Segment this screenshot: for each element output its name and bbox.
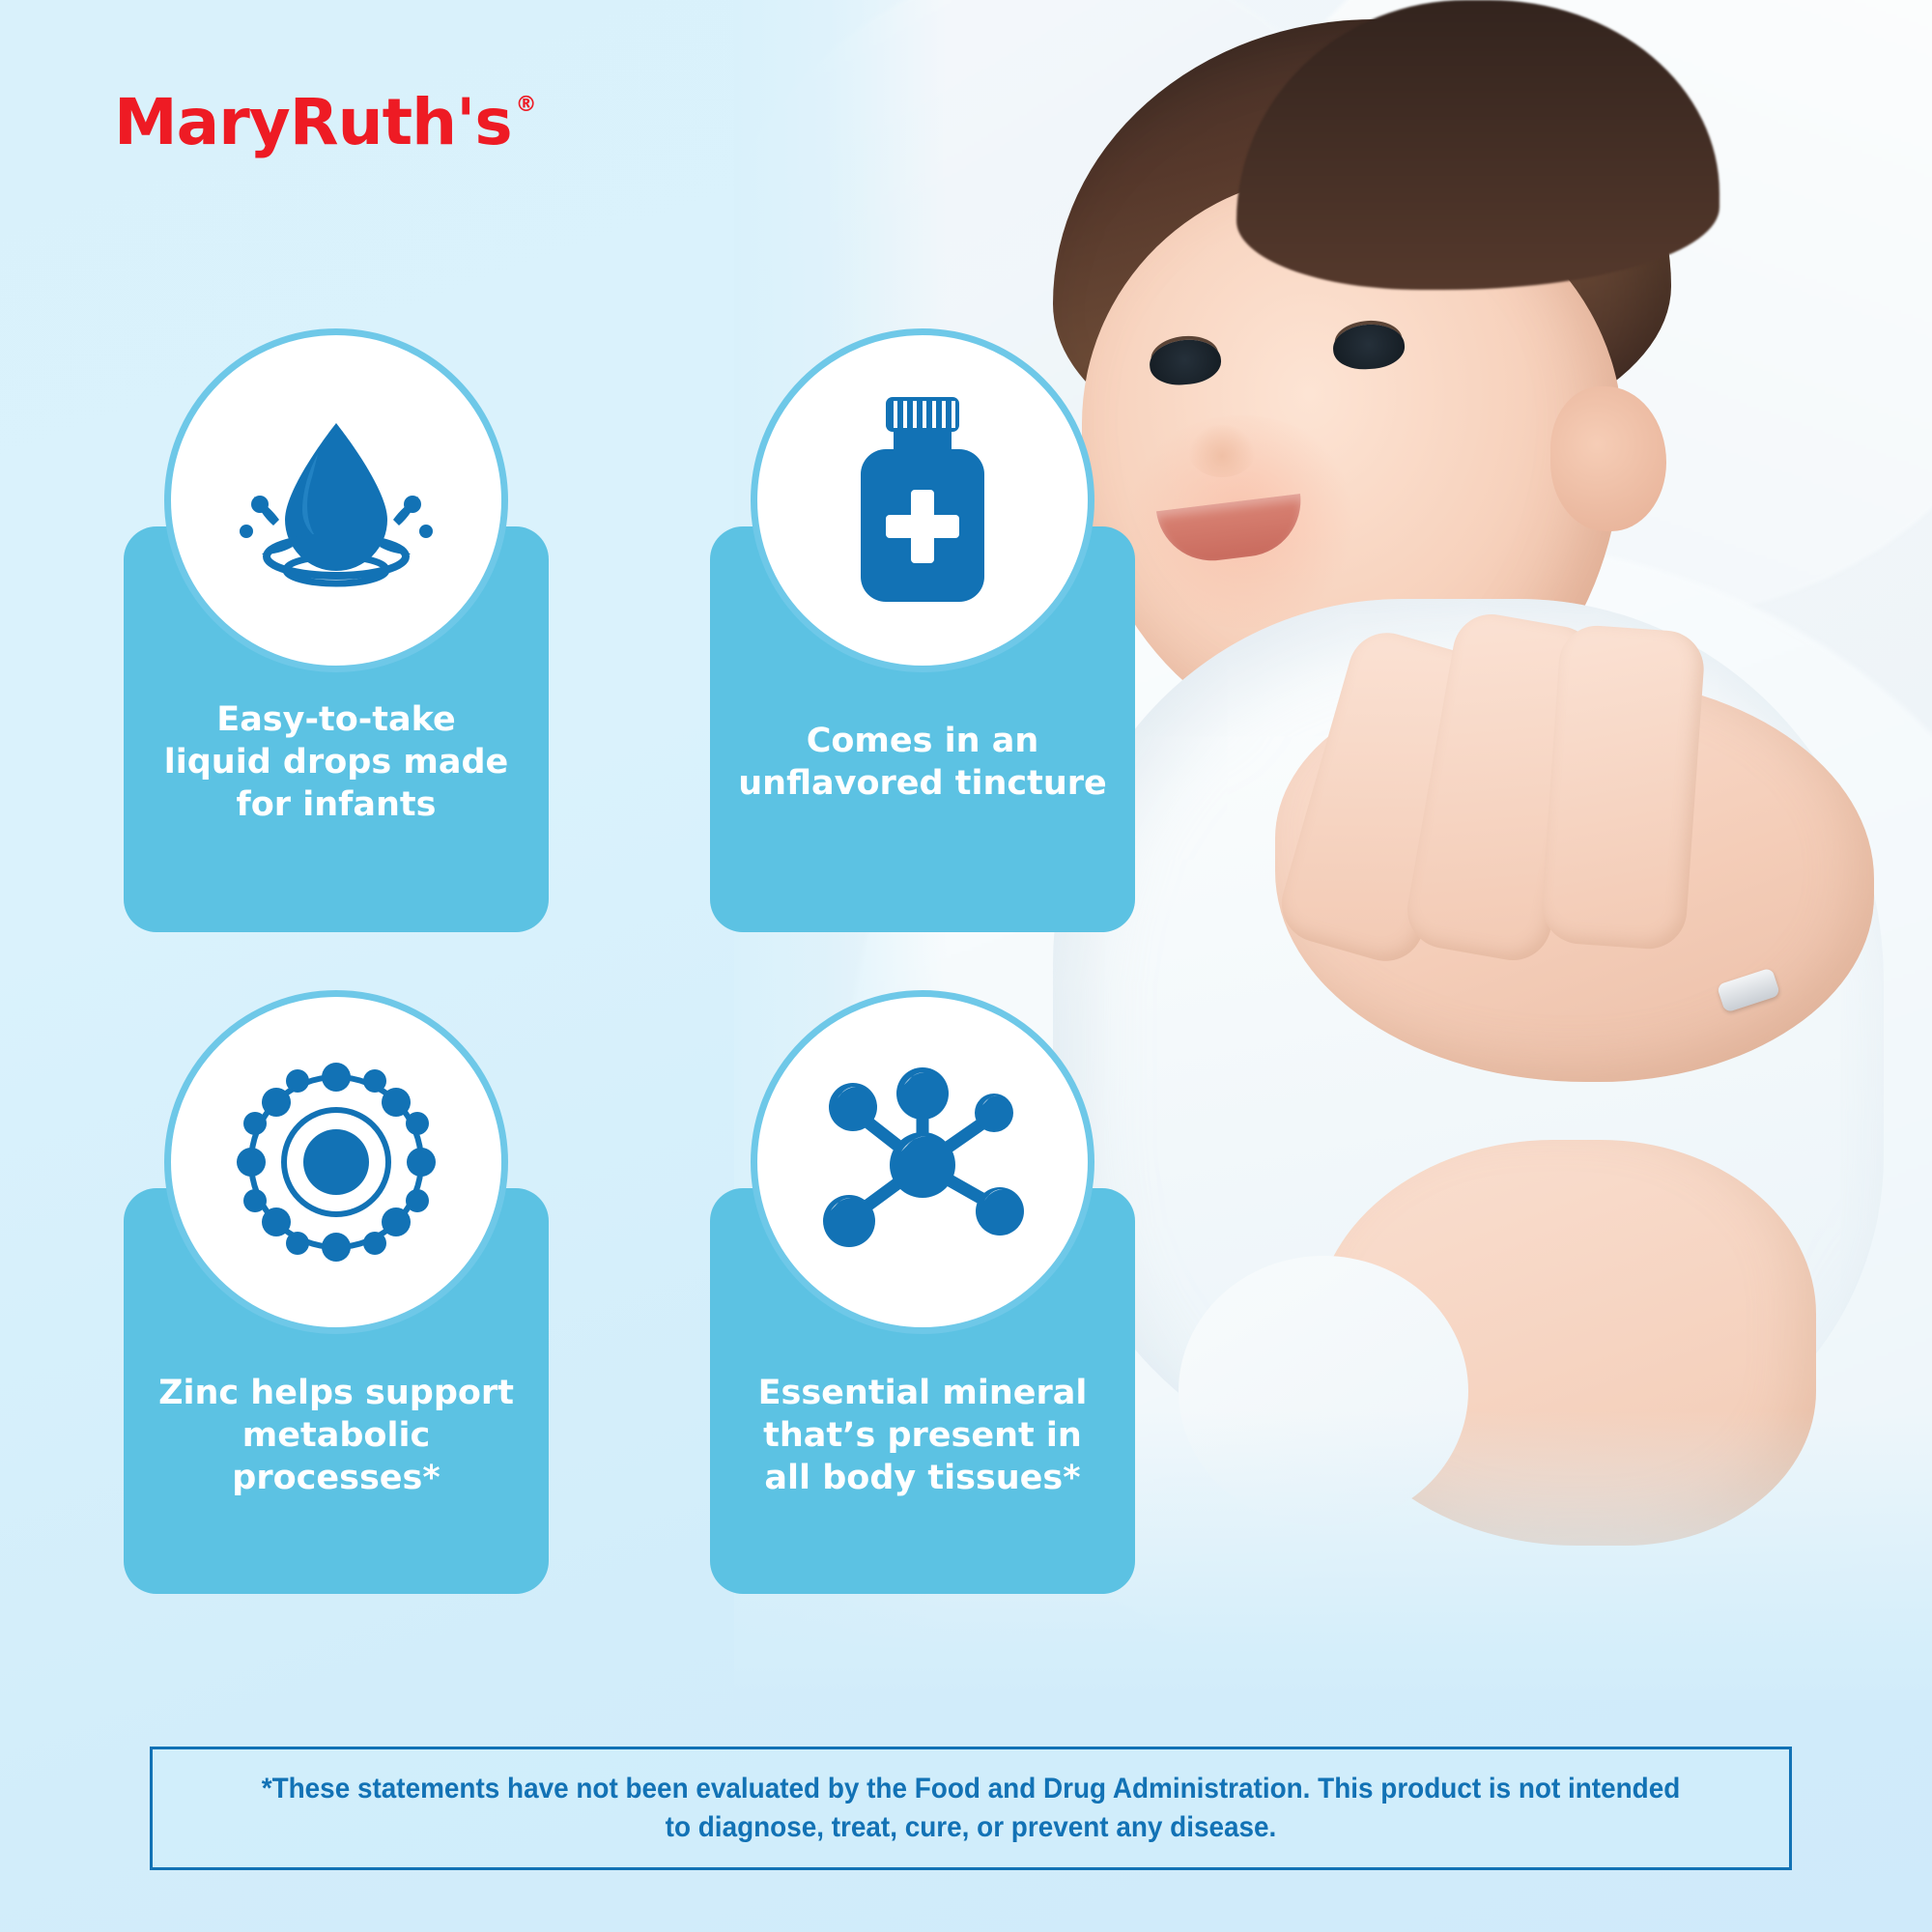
registered-trademark-icon: ® xyxy=(516,93,536,117)
water-drop-icon xyxy=(225,404,447,597)
fda-disclaimer-box: *These statements have not been evaluate… xyxy=(150,1747,1792,1870)
medicine-bottle-icon xyxy=(826,389,1019,611)
icon-bubble-4 xyxy=(751,990,1094,1334)
brand-logo[interactable]: Mary Ruth's ® xyxy=(114,85,536,159)
feature-text-essential-mineral: Essential mineral that’s present in all … xyxy=(710,1372,1135,1499)
feature-text-unflavored-tincture: Comes in an unflavored tincture xyxy=(710,720,1135,805)
atom-icon xyxy=(220,1046,452,1278)
photo-finger-3 xyxy=(1540,623,1707,952)
photo-baby-nose xyxy=(1188,425,1256,477)
logo-mary: Mary xyxy=(114,85,290,159)
molecule-icon xyxy=(807,1051,1038,1273)
icon-bubble-1 xyxy=(164,328,508,672)
feature-text-easy-to-take: Easy-to-take liquid drops made for infan… xyxy=(124,698,549,826)
feature-text-metabolic-support: Zinc helps support metabolic processes* xyxy=(124,1372,549,1499)
infographic-root: Mary Ruth's ® Easy-to-take liquid drops … xyxy=(0,0,1932,1932)
icon-bubble-3 xyxy=(164,990,508,1334)
icon-bubble-2 xyxy=(751,328,1094,672)
logo-ruths: Ruth's xyxy=(290,85,512,159)
fda-disclaimer-text: *These statements have not been evaluate… xyxy=(245,1770,1695,1848)
